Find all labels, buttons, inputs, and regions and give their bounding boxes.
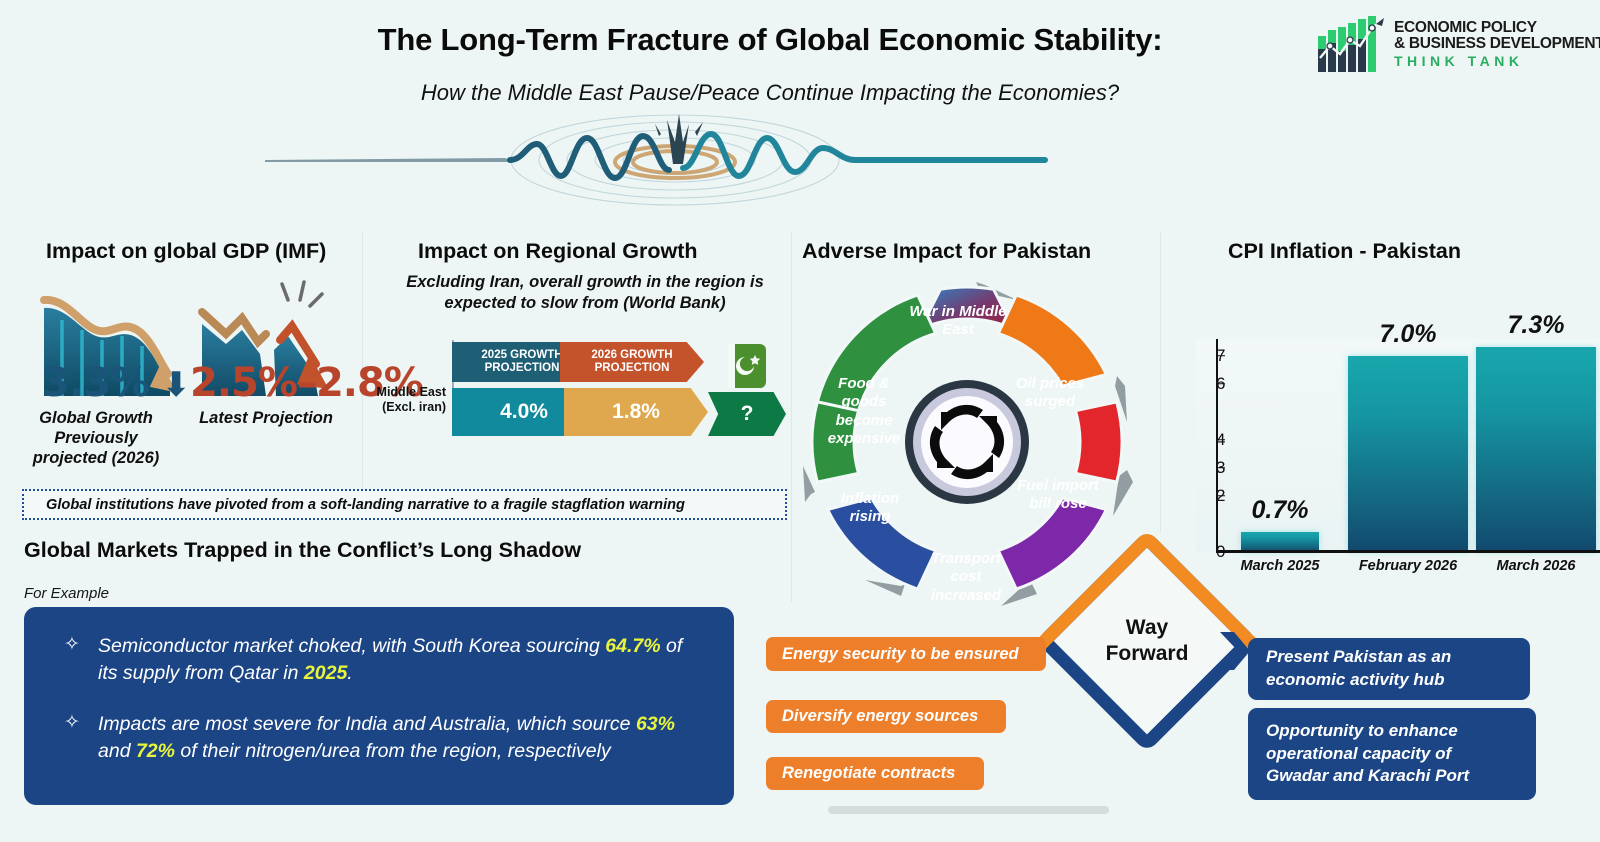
arrow-down-icon: ⬇ [162, 365, 190, 405]
way-forward-right-item-1[interactable]: Present Pakistan as an economic activity… [1248, 638, 1530, 700]
quote-banner: Global institutions have pivoted from a … [22, 489, 787, 520]
horizontal-scrollbar[interactable] [828, 806, 1109, 814]
markets-bullet-2-text: Impacts are most severe for India and Au… [98, 711, 700, 765]
regional-row-label-line1: Middle East [374, 385, 446, 400]
way-forward-left-item-1[interactable]: Energy security to be ensured [766, 637, 1046, 671]
cpi-value-label: 0.7% [1238, 496, 1322, 525]
gdp-previous-number: 3.3% [42, 360, 149, 406]
four-point-star-bullet-icon: ✧ [64, 711, 84, 765]
way-forward-left-item-3[interactable]: Renegotiate contracts [766, 757, 984, 790]
bar-chart-growth-icon [1316, 14, 1388, 74]
cpi-chart-title: CPI Inflation - Pakistan [1228, 239, 1461, 264]
highlight-value: 64.7% [605, 635, 660, 657]
highlight-value: 2025 [304, 662, 347, 684]
regional-heading: Impact on Regional Growth [418, 239, 698, 264]
gdp-previous-caption: Global Growth Previously projected (2026… [16, 408, 176, 468]
section-divider-3 [1160, 232, 1161, 532]
markets-example-label: For Example [24, 585, 109, 602]
cpi-value-label: 7.3% [1494, 311, 1578, 340]
regional-value-2026: 1.8% [564, 388, 708, 436]
infographic-canvas: The Long-Term Fracture of Global Economi… [0, 0, 1600, 842]
highlight-value: 63% [636, 713, 675, 735]
cpi-x-axis [1216, 550, 1600, 553]
page-title: The Long-Term Fracture of Global Economi… [0, 22, 1540, 58]
markets-card: ✧ Semiconductor market choked, with Sout… [24, 607, 734, 805]
chevron-right-icon [1218, 630, 1252, 672]
cpi-y-tick-mark [1218, 439, 1225, 441]
regional-row-label-line2: (Excl. iran) [374, 400, 446, 415]
list-item: ✧ Impacts are most severe for India and … [64, 711, 700, 765]
cpi-x-label: March 2026 [1456, 558, 1600, 574]
way-forward-left-item-2[interactable]: Diversify energy sources [766, 700, 1006, 733]
regional-subtitle: Excluding Iran, overall growth in the re… [390, 272, 780, 315]
logo-line-1: ECONOMIC POLICY [1394, 20, 1600, 36]
list-item: ✧ Semiconductor market choked, with Sout… [64, 633, 700, 687]
gdp-previous-value: 3.3% ⬇ [42, 360, 189, 406]
cpi-y-axis [1216, 339, 1218, 552]
way-forward-right-item-2[interactable]: Opportunity to enhance operational capac… [1248, 708, 1536, 800]
logo-line-2: & BUSINESS DEVELOPMENT [1394, 36, 1600, 52]
cpi-y-tick-mark [1218, 495, 1225, 497]
markets-heading: Global Markets Trapped in the Conflict’s… [24, 538, 581, 563]
section-divider-2 [791, 232, 792, 602]
four-point-star-bullet-icon: ✧ [64, 633, 84, 687]
gdp-heading: Impact on global GDP (IMF) [46, 239, 326, 264]
cpi-y-tick-mark [1218, 383, 1225, 385]
cpi-value-label: 7.0% [1366, 320, 1450, 349]
regional-row-label: Middle East (Excl. iran) [374, 385, 446, 416]
water-ripple-shockwave-icon [255, 108, 1055, 206]
gdp-latest-caption: Latest Projection [196, 408, 336, 428]
cpi-y-tick-mark [1218, 355, 1225, 357]
regional-pakistan-unknown: ? [708, 392, 786, 436]
adverse-impact-wheel [795, 272, 1145, 612]
cpi-bar-2 [1476, 347, 1596, 552]
cpi-y-tick-mark [1218, 467, 1225, 469]
logo-line-3: THINK TANK [1394, 54, 1600, 68]
highlight-value: 72% [136, 740, 175, 762]
brand-logo: ECONOMIC POLICY & BUSINESS DEVELOPMENT T… [1316, 8, 1588, 80]
markets-bullet-1-text: Semiconductor market choked, with South … [98, 633, 700, 687]
cpi-bar-1 [1348, 356, 1468, 552]
wheel-heading: Adverse Impact for Pakistan [802, 239, 1091, 264]
pakistan-flag-icon [720, 342, 768, 390]
page-subtitle: How the Middle East Pause/Peace Continue… [0, 80, 1540, 106]
regional-header-2026: 2026 GROWTH PROJECTION [560, 342, 704, 382]
